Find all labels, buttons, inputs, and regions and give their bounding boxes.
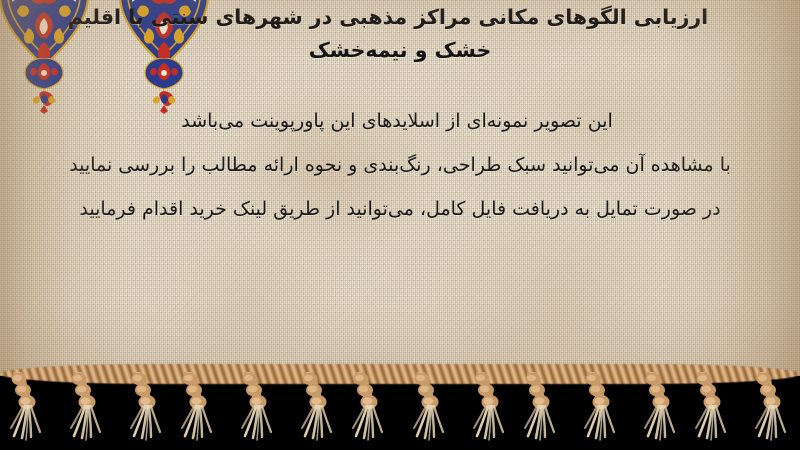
carpet-tassel — [629, 372, 685, 450]
canvas-fabric-panel: ارزیابی الگوهای مکانی مراکز مذهبی در شهر… — [0, 0, 800, 376]
carpet-tassel — [458, 372, 514, 450]
carpet-tassel — [1, 372, 57, 450]
slide-text-layer: ارزیابی الگوهای مکانی مراکز مذهبی در شهر… — [0, 0, 800, 376]
carpet-tassel — [343, 372, 399, 450]
slide-body-line-3: در صورت تمایل به دریافت فایل کامل، می‌تو… — [0, 198, 800, 222]
carpet-tassel — [115, 372, 171, 450]
carpet-tassel — [743, 372, 799, 450]
slide-title-line-1: ارزیابی الگوهای مکانی مراکز مذهبی در شهر… — [0, 5, 800, 30]
carpet-tassel — [229, 372, 285, 450]
slide-body-line-2: با مشاهده آن می‌توانید سبک طراحی، رنگ‌بن… — [0, 154, 800, 178]
carpet-tassel — [172, 372, 228, 450]
carpet-tassel — [286, 372, 342, 450]
slide-body-line-1: این تصویر نمونه‌ای از اسلایدهای این پاور… — [0, 110, 800, 134]
presentation-slide: ارزیابی الگوهای مکانی مراکز مذهبی در شهر… — [0, 0, 800, 450]
slide-title-line-2: خشک و نیمه‌خشک — [0, 38, 800, 63]
carpet-fringe-row — [0, 372, 800, 450]
carpet-tassel — [401, 372, 457, 450]
carpet-tassel — [686, 372, 742, 450]
carpet-tassel — [515, 372, 571, 450]
carpet-tassel — [572, 372, 628, 450]
carpet-tassel — [58, 372, 114, 450]
